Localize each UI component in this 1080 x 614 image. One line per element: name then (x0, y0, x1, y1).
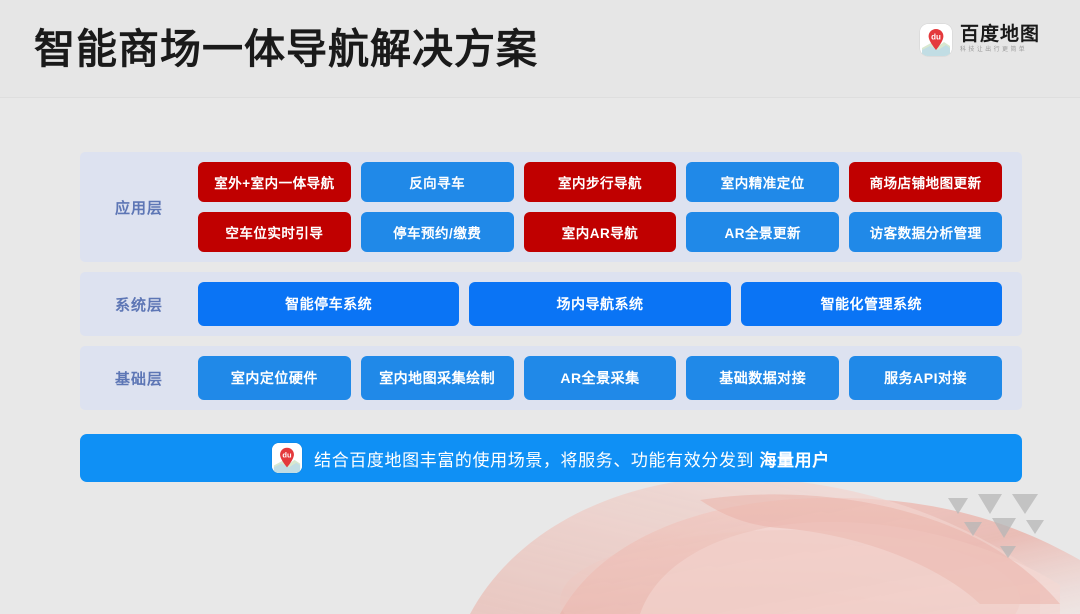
diagram-cell[interactable]: 室内AR导航 (524, 212, 677, 252)
baidu-map-pin-icon: du (272, 443, 302, 473)
svg-text:du: du (931, 33, 941, 42)
diagram-cell[interactable]: 室内步行导航 (524, 162, 677, 202)
cell-row: 室外+室内一体导航 反向寻车 室内步行导航 室内精准定位 商场店铺地图更新 (198, 162, 1002, 202)
layer-row-system: 系统层 智能停车系统 场内导航系统 智能化管理系统 (80, 272, 1022, 336)
brand-tagline: 科技让出行更简单 (960, 46, 1040, 55)
diagram-cell[interactable]: 反向寻车 (361, 162, 514, 202)
diagram-cell[interactable]: AR全景更新 (686, 212, 839, 252)
cell-row: 智能停车系统 场内导航系统 智能化管理系统 (198, 282, 1002, 326)
diagram-cell[interactable]: 室内定位硬件 (198, 356, 351, 400)
banner-text-emphasis: 海量用户 (759, 451, 829, 470)
page-title: 智能商场一体导航解决方案 (34, 22, 538, 76)
cell-row: 室内定位硬件 室内地图采集绘制 AR全景采集 基础数据对接 服务API对接 (198, 356, 1002, 400)
baidu-map-pin-icon: du (920, 24, 952, 56)
diagram-cell[interactable]: 智能停车系统 (198, 282, 459, 326)
diagram-cell[interactable]: 商场店铺地图更新 (849, 162, 1002, 202)
brand-name: 百度地图 (960, 25, 1040, 45)
diagram-cell[interactable]: 室内精准定位 (686, 162, 839, 202)
slide-header: 智能商场一体导航解决方案 du 百度地图 科技让出行更简单 (0, 0, 1080, 98)
layer-label-application: 应用层 (80, 197, 198, 218)
architecture-diagram: 应用层 室外+室内一体导航 反向寻车 室内步行导航 室内精准定位 商场店铺地图更… (80, 152, 1022, 420)
diagram-cell[interactable]: 室内地图采集绘制 (361, 356, 514, 400)
svg-text:du: du (283, 451, 293, 460)
diagram-cell[interactable]: AR全景采集 (524, 356, 677, 400)
layer-cells-foundation: 室内定位硬件 室内地图采集绘制 AR全景采集 基础数据对接 服务API对接 (198, 356, 1022, 400)
diagram-cell[interactable]: 停车预约/缴费 (361, 212, 514, 252)
triangle-pattern-icon (948, 494, 1044, 558)
brand-logo-text: 百度地图 科技让出行更简单 (960, 25, 1040, 55)
diagram-cell[interactable]: 服务API对接 (849, 356, 1002, 400)
layer-row-application: 应用层 室外+室内一体导航 反向寻车 室内步行导航 室内精准定位 商场店铺地图更… (80, 152, 1022, 262)
diagram-cell[interactable]: 基础数据对接 (686, 356, 839, 400)
bottom-banner: du 结合百度地图丰富的使用场景，将服务、功能有效分发到 海量用户 (80, 434, 1022, 482)
cell-row: 空车位实时引导 停车预约/缴费 室内AR导航 AR全景更新 访客数据分析管理 (198, 212, 1002, 252)
diagram-cell[interactable]: 场内导航系统 (469, 282, 730, 326)
diagram-cell[interactable]: 室外+室内一体导航 (198, 162, 351, 202)
layer-label-foundation: 基础层 (80, 368, 198, 389)
diagram-cell[interactable]: 空车位实时引导 (198, 212, 351, 252)
banner-text-lead: 结合百度地图丰富的使用场景，将服务、功能有效分发到 (314, 451, 759, 470)
layer-row-foundation: 基础层 室内定位硬件 室内地图采集绘制 AR全景采集 基础数据对接 服务API对… (80, 346, 1022, 410)
diagram-cell[interactable]: 智能化管理系统 (741, 282, 1002, 326)
layer-label-system: 系统层 (80, 294, 198, 315)
diagram-cell[interactable]: 访客数据分析管理 (849, 212, 1002, 252)
layer-cells-application: 室外+室内一体导航 反向寻车 室内步行导航 室内精准定位 商场店铺地图更新 空车… (198, 162, 1022, 252)
layer-cells-system: 智能停车系统 场内导航系统 智能化管理系统 (198, 282, 1022, 326)
brand-logo: du 百度地图 科技让出行更简单 (920, 24, 1040, 56)
banner-text: 结合百度地图丰富的使用场景，将服务、功能有效分发到 海量用户 (314, 446, 830, 471)
